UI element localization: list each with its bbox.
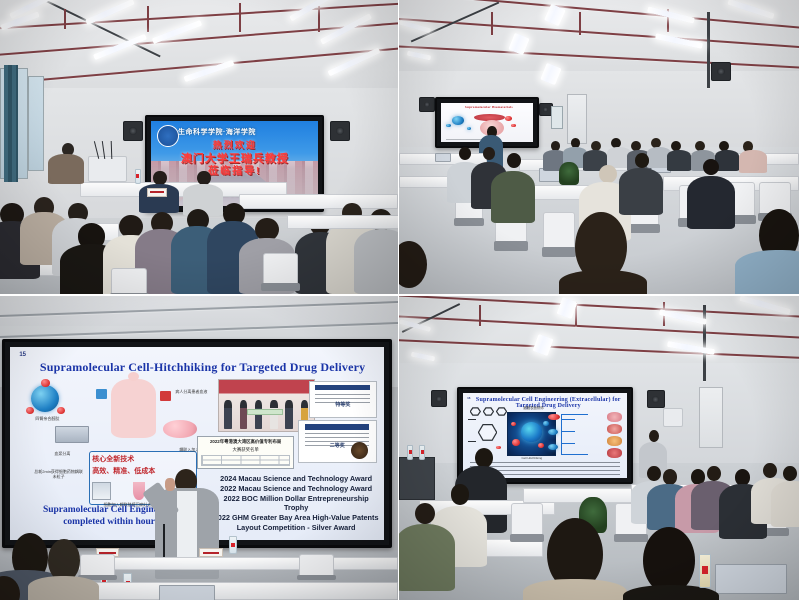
chair-icon[interactable] xyxy=(299,554,335,578)
person xyxy=(667,150,691,171)
human-body-icon xyxy=(111,379,156,437)
person-foreground xyxy=(735,250,799,296)
speaker-icon xyxy=(123,121,143,142)
slide-number: 15 xyxy=(19,352,26,358)
water-bottle-icon xyxy=(229,536,237,554)
water-bottle-icon xyxy=(419,445,425,460)
downpipe xyxy=(707,12,710,88)
award-item: 2022 Macau Science and Technology Award xyxy=(212,484,380,494)
laptop-icon[interactable] xyxy=(435,153,451,162)
slide-number: 16 xyxy=(467,396,470,400)
plant-icon xyxy=(559,162,579,186)
ceiling-pipe-vertical xyxy=(579,12,581,36)
ceiling-pipe-vertical xyxy=(318,6,320,32)
photo-panel-top-left[interactable]: 生命科学学院·海洋学院 热烈欢迎 澳门大学王瑞兵教授 莅临指导! 2025年5月… xyxy=(0,0,399,296)
microphone-stand xyxy=(163,524,165,560)
audience-table xyxy=(64,582,398,600)
speaker-icon xyxy=(431,390,447,407)
person xyxy=(399,524,455,591)
diagram-label: 细胞表面修饰 xyxy=(522,406,545,410)
downpipe xyxy=(703,305,706,381)
organ-inflammation-icon xyxy=(607,448,622,458)
speaker-icon xyxy=(647,390,665,408)
person xyxy=(48,154,84,183)
award-item: 2024 Macau Science and Technology Award xyxy=(212,474,380,484)
cert-title-line1: 2022年粤港澳大湾区高价值专利布局 xyxy=(198,437,293,445)
person-head xyxy=(475,448,493,468)
person-head xyxy=(763,463,777,478)
slide-department: 生命科学学院·海洋学院 xyxy=(178,127,256,137)
door-icon[interactable] xyxy=(699,387,723,448)
person-head xyxy=(459,147,471,160)
person-head xyxy=(599,165,617,183)
ceiling-pipe-vertical xyxy=(479,305,481,326)
photo-collage: 生命科学学院·海洋学院 热烈欢迎 澳门大学王瑞兵教授 莅临指导! 2025年5月… xyxy=(0,0,799,600)
speaker-icon xyxy=(419,97,435,112)
person-head xyxy=(451,484,469,504)
water-bottle-icon xyxy=(699,554,711,587)
footer-line2: completed within hours xyxy=(63,517,159,527)
award-name-list-table: 2022年粤港澳大湾区高价值专利布局 大赛获奖名单 xyxy=(197,436,294,469)
person xyxy=(687,176,735,229)
organ-lung-icon xyxy=(607,412,622,422)
person-foreground xyxy=(28,576,100,600)
speaker-icon xyxy=(330,121,350,142)
person xyxy=(491,171,535,224)
person xyxy=(771,481,799,527)
chair-icon[interactable] xyxy=(263,253,299,288)
front-table xyxy=(239,194,398,209)
photo-panel-bottom-right[interactable]: 16 Supramolecular Cell Engineering (Extr… xyxy=(399,296,799,600)
certificate-label: 特等奖 xyxy=(310,401,375,408)
person-head xyxy=(635,153,649,168)
ceiling-pipe-vertical xyxy=(491,12,493,36)
nanoparticle-icon xyxy=(31,385,59,412)
chair-icon[interactable] xyxy=(543,212,575,253)
nanoparticle-red-icon xyxy=(57,407,65,415)
ceiling-pipe-vertical xyxy=(239,3,241,32)
person-head xyxy=(703,159,719,175)
award-item: Layout Competition - Silver Award xyxy=(212,523,380,533)
chair-icon[interactable] xyxy=(511,503,543,539)
core-tech-line1: 核心全新技术 xyxy=(92,455,167,464)
window xyxy=(551,106,563,130)
chemical-structure-icon xyxy=(478,423,498,442)
wall-panel xyxy=(663,408,683,426)
podium xyxy=(88,156,128,182)
person-head-foreground xyxy=(643,527,695,594)
cert-title-line2: 大赛获奖名单 xyxy=(198,445,293,453)
name-plate xyxy=(147,188,167,197)
person-foreground xyxy=(559,270,647,296)
person-head xyxy=(153,171,167,186)
person xyxy=(619,168,663,215)
cell-type-icon xyxy=(548,414,559,421)
ceiling-pipe-vertical xyxy=(147,6,149,32)
laptop-icon[interactable] xyxy=(715,564,787,594)
core-tech-line2: 高效、精准、低成本 xyxy=(92,467,174,476)
diagram-label: 四臂亲合醛肽 xyxy=(17,416,77,421)
person-head xyxy=(783,466,797,481)
photo-panel-bottom-left[interactable]: 15 Supramolecular Cell-Hitchhiking for T… xyxy=(0,296,399,600)
person-head xyxy=(483,147,495,160)
nanoparticle-red-icon xyxy=(41,379,49,387)
diagram-label: 血浆分离 xyxy=(40,451,85,456)
person xyxy=(354,229,399,294)
person-head xyxy=(647,466,661,481)
organ-vessel-icon xyxy=(607,424,622,434)
water-bottle-icon xyxy=(135,169,141,184)
nanoparticle-red-icon xyxy=(26,407,34,415)
award-item: 2022 BOC Million Dollar Entrepreneurship… xyxy=(212,494,380,513)
diagram-label: 总耗2min获得细胞药物耦联未粒子 xyxy=(32,469,84,479)
audience-table xyxy=(287,215,399,230)
laptop-icon[interactable] xyxy=(159,585,215,600)
diagram-label: 病人分离患者血液 xyxy=(171,389,212,394)
curtain xyxy=(4,65,18,183)
slide-title: Supramolecular Cell-Hitchhiking for Targ… xyxy=(32,360,372,375)
person xyxy=(739,150,767,174)
person-head xyxy=(707,466,721,481)
ceiling-pipe-vertical xyxy=(64,9,66,30)
cell-type-icon xyxy=(548,429,558,435)
slide-welcome-line3: 莅临指导! xyxy=(151,162,318,177)
slide-title: Supramolecular Biomaterials xyxy=(448,105,529,109)
slide-title: Supramolecular Cell Engineering (Extrace… xyxy=(474,397,622,409)
person-head xyxy=(197,171,211,186)
chair-icon[interactable] xyxy=(80,554,116,578)
person-head xyxy=(415,503,435,524)
blood-cells-icon xyxy=(163,420,197,437)
organ-tumor-icon xyxy=(607,436,622,446)
person-foreground xyxy=(523,579,627,600)
chair-icon[interactable] xyxy=(111,268,147,296)
photo-panel-top-right[interactable]: Supramolecular Biomaterials xyxy=(399,0,799,296)
award-list: 2024 Macau Science and Technology Award … xyxy=(212,474,380,532)
person-head xyxy=(735,469,750,485)
name-plate xyxy=(199,548,223,557)
window xyxy=(28,76,44,170)
water-bottle-icon xyxy=(407,445,413,460)
cell-type-icon xyxy=(548,444,558,450)
award-item: 2022 GHM Greater Bay Area High-Value Pat… xyxy=(212,513,380,523)
certificate-second-prize: 二等奖 xyxy=(298,420,377,463)
speaker-icon xyxy=(711,62,731,81)
certificate-first-prize: 特等奖 xyxy=(309,381,376,418)
door-icon[interactable] xyxy=(567,94,587,144)
